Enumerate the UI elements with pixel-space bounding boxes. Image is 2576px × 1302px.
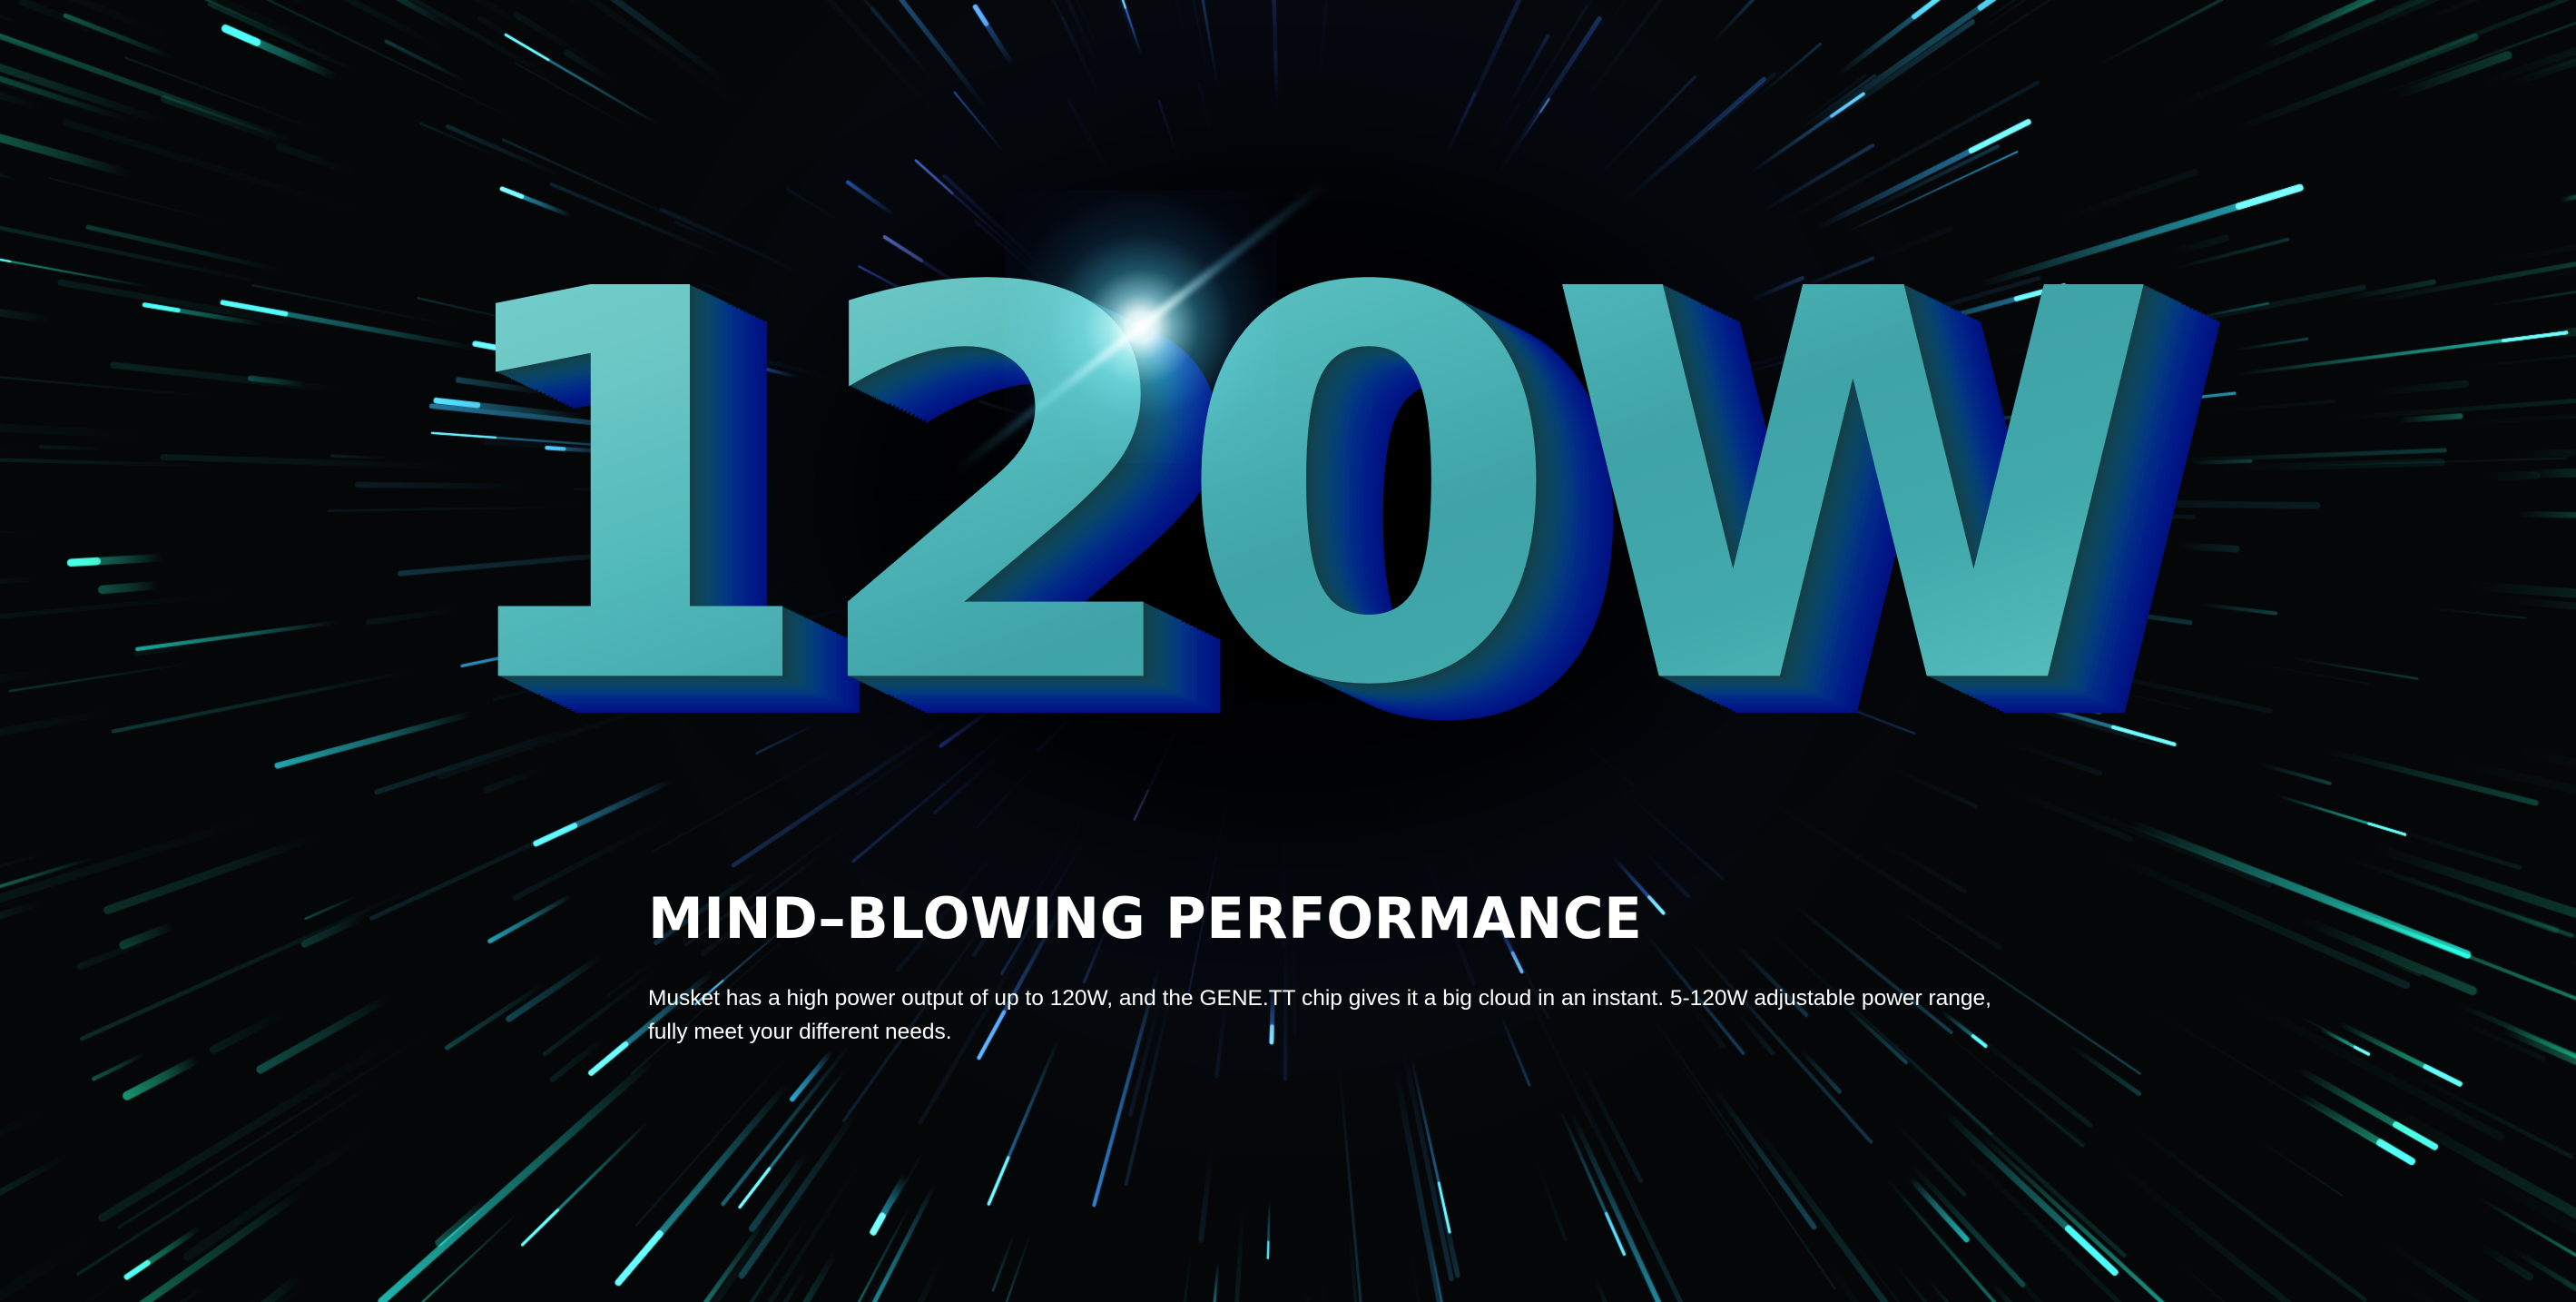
copy-block: MIND–BLOWING PERFORMANCE Musket has a hi… xyxy=(648,890,2119,1050)
radial-burst-background xyxy=(0,0,2576,1302)
headline: MIND–BLOWING PERFORMANCE xyxy=(648,890,2097,947)
hero-banner: 120W 120W MIND–BLOWING PERFORMANCE Muske… xyxy=(0,0,2576,1302)
body-paragraph: Musket has a high power output of up to … xyxy=(648,981,2010,1049)
